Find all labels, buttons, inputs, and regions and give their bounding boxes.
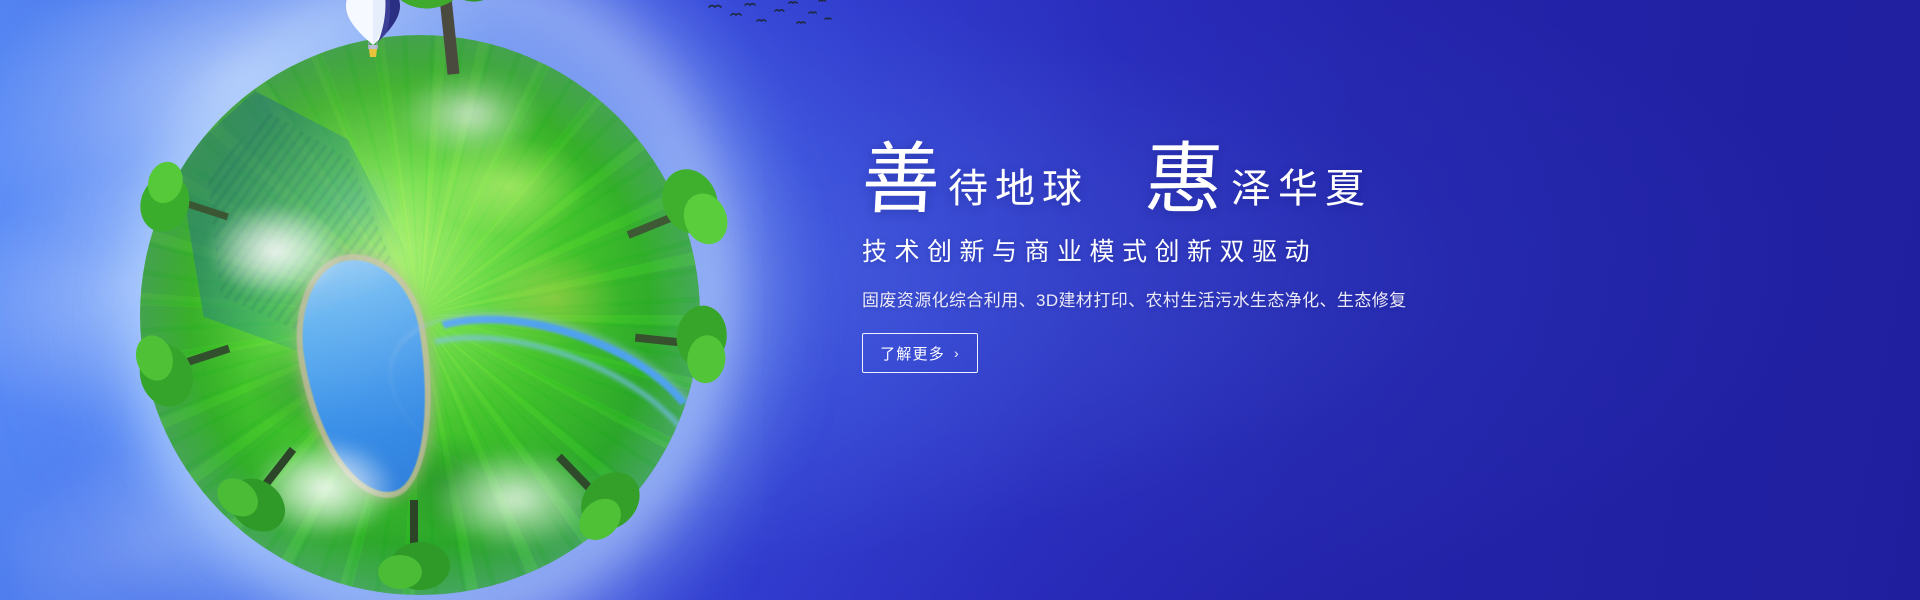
subtitle: 技术创新与商业模式创新双驱动 [862,232,1682,268]
learn-more-button[interactable]: 了解更多 › [862,333,978,373]
bird-flock-icon [705,0,835,39]
headline-phrase2-big: 惠 [1143,144,1225,216]
headline: 善 待地球 惠 泽华夏 [862,120,1682,216]
chevron-right-icon: › [954,346,960,360]
learn-more-label: 了解更多 [880,343,945,364]
tiny-planet-artwork [120,0,740,600]
headline-phrase1-small: 待地球 [940,169,1089,216]
headline-phrase2-small: 泽华夏 [1223,169,1372,216]
description: 固废资源化综合利用、3D建材打印、农村生活污水生态净化、生态修复 [862,286,1682,311]
headline-phrase1-big: 善 [860,144,942,216]
hot-air-balloon-icon [342,0,404,67]
hero-banner: 善 待地球 惠 泽华夏 技术创新与商业模式创新双驱动 固废资源化综合利用、3D建… [0,0,1920,600]
tree-icon [370,500,458,600]
tree-icon [630,292,743,394]
hero-copy: 善 待地球 惠 泽华夏 技术创新与商业模式创新双驱动 固废资源化综合利用、3D建… [862,120,1682,373]
